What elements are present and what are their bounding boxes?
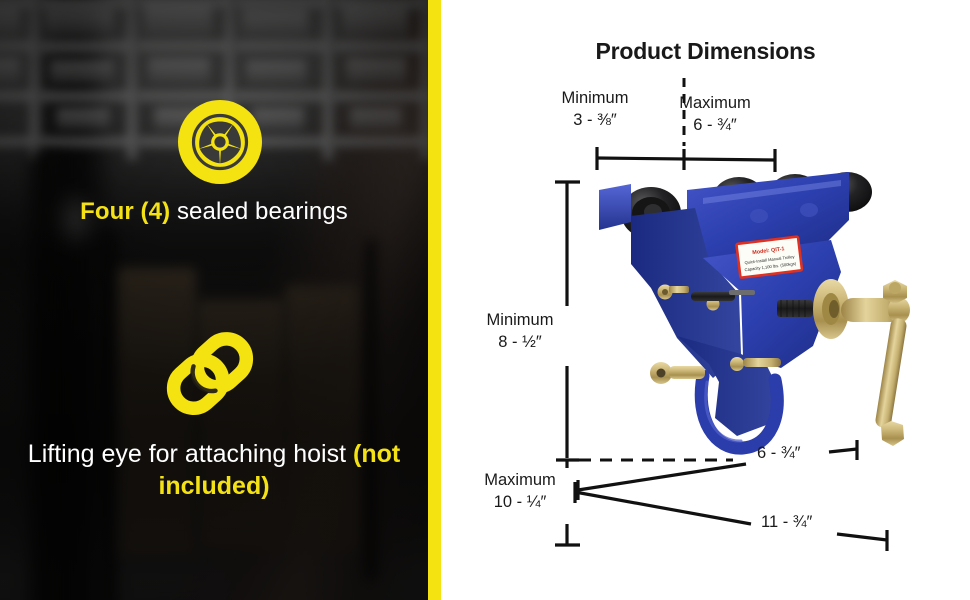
dimension-lines [441,0,970,600]
chain-link-icon [158,330,270,426]
length-leader-left [575,492,751,524]
feature-2-caption: Lifting eye for attaching hoist (not inc… [0,438,428,502]
length-leader-right [837,534,887,540]
feature-1-rest: sealed bearings [170,198,348,225]
yellow-divider [428,0,441,600]
feature-1-caption: Four (4) sealed bearings [0,198,428,226]
wheel-bearing-icon [178,100,262,184]
infographic-canvas: Four (4) sealed bearings Lifting eye for… [0,0,970,600]
feature-1-highlight: Four (4) [80,198,170,225]
warehouse-photo-panel: Four (4) sealed bearings Lifting eye for… [0,0,428,600]
top-span-line [597,158,775,160]
depth-leader-left [578,464,746,490]
depth-leader-right [829,449,857,452]
feature-2-line1: Lifting eye for attaching hoist [28,440,346,468]
product-dimensions-panel: Product Dimensions [441,0,970,600]
